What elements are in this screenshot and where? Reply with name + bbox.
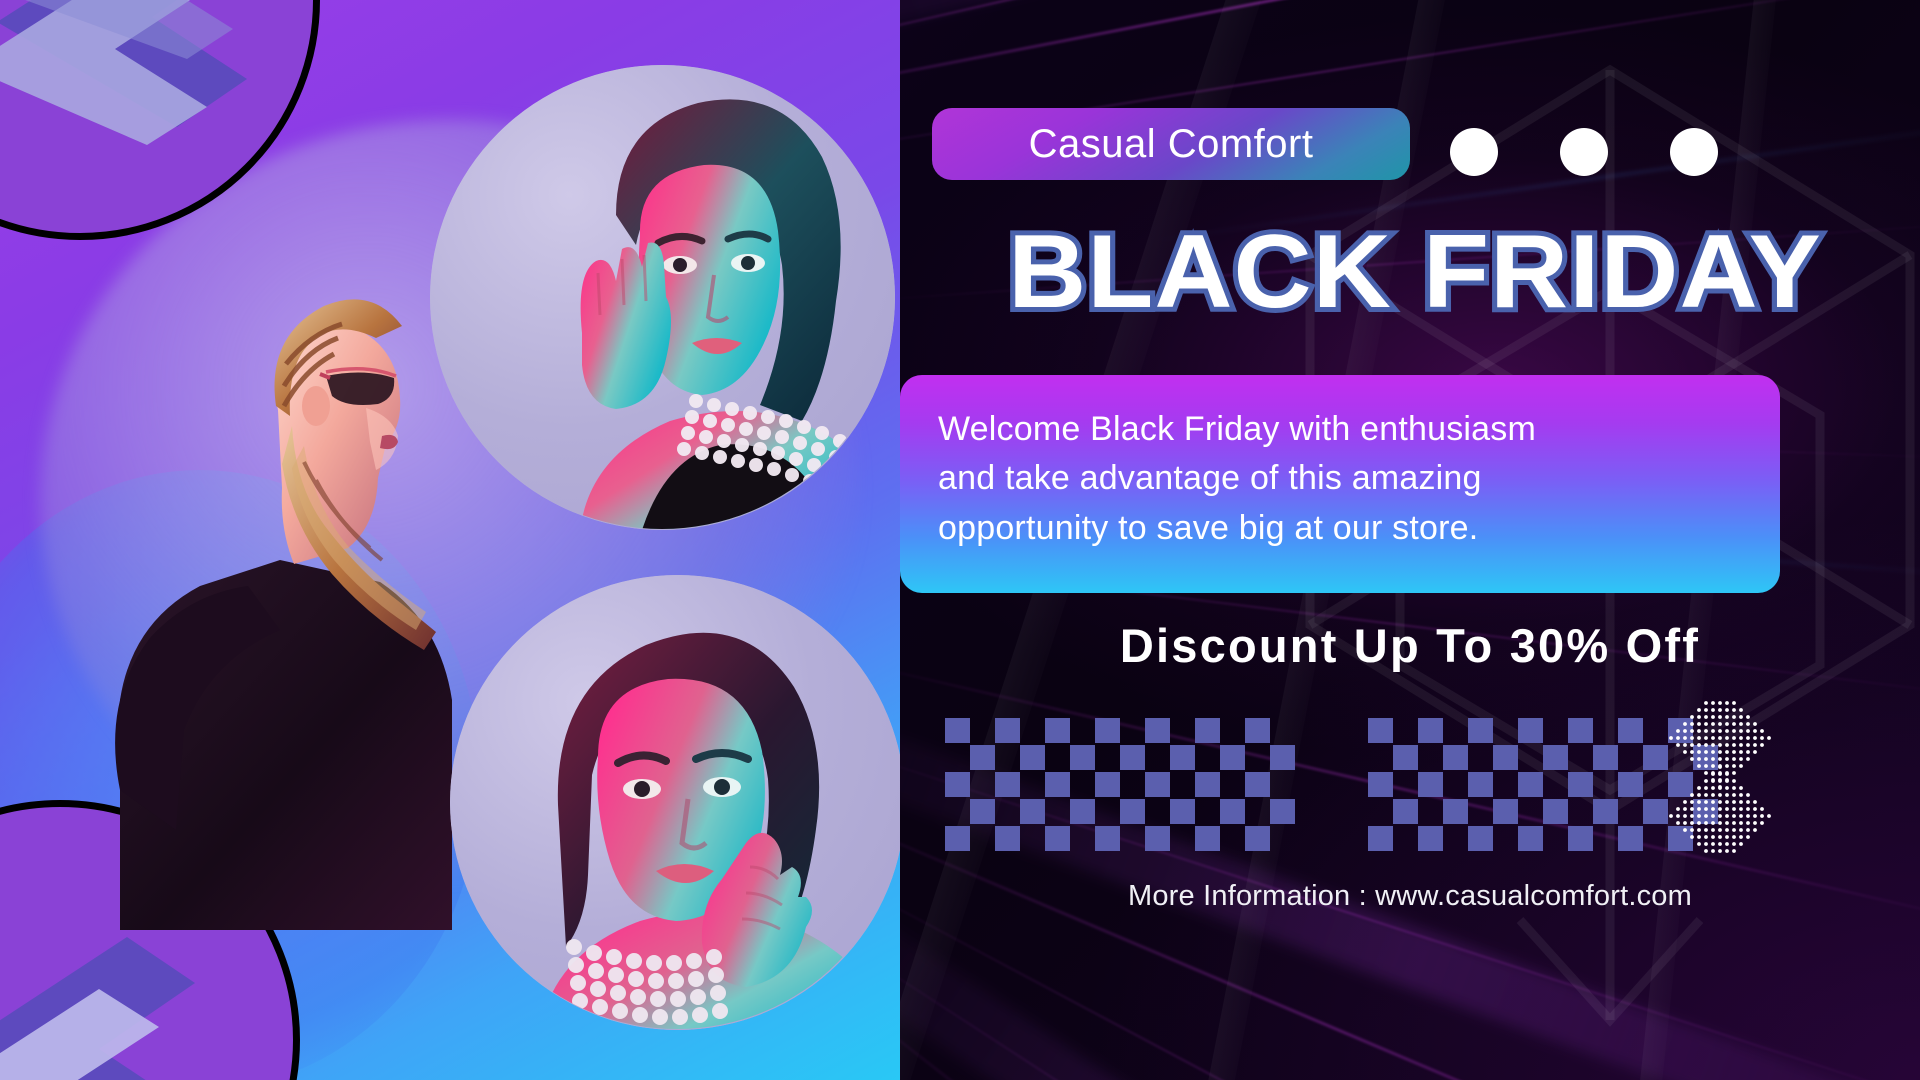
checker-cell [1120,826,1145,851]
checker-cell [1245,799,1270,824]
checker-cell [1120,772,1145,797]
dot-indicator[interactable] [1450,128,1498,176]
checker-cell [1568,718,1593,743]
checker-cell [1145,745,1170,770]
checker-cell [1195,799,1220,824]
checker-cell [1170,826,1195,851]
checker-cell [1095,745,1120,770]
checker-cell [970,718,995,743]
checker-cell [1270,826,1295,851]
checker-cell [1468,745,1493,770]
checker-cell [1393,772,1418,797]
checker-cell [1270,772,1295,797]
checker-cell [970,799,995,824]
checker-cell [1543,772,1568,797]
checker-cell [945,799,970,824]
checker-cell [1120,799,1145,824]
content-column: Casual Comfort BLACK FRIDAY Welcome Blac… [920,0,1920,1080]
checker-cell [1618,799,1643,824]
checker-cell [970,772,995,797]
checker-cell [995,826,1020,851]
checker-cell [1070,745,1095,770]
checker-cell [1220,772,1245,797]
dotted-diamond-ornament-icon [1660,700,1780,855]
checker-cell [995,772,1020,797]
checker-cell [1070,772,1095,797]
checker-cell [1095,718,1120,743]
checker-cell [970,826,995,851]
description-line-2: and take advantage of this amazing [938,454,1742,503]
checker-cell [1270,745,1295,770]
discount-headline: Discount Up To 30% Off [910,618,1910,673]
checker-cell [945,826,970,851]
checker-cell [1095,799,1120,824]
checker-cell [1245,718,1270,743]
checker-cell [1270,799,1295,824]
checker-cell [1120,718,1145,743]
checker-grid [945,718,1295,851]
checker-cell [1543,826,1568,851]
checker-cell [1020,799,1045,824]
checker-cell [1468,772,1493,797]
checker-cell [1418,826,1443,851]
checker-cell [1443,799,1468,824]
checker-cell [1195,718,1220,743]
dot-indicators [1450,128,1718,176]
checker-cell [1593,718,1618,743]
checker-cell [1593,745,1618,770]
checker-cell [1170,718,1195,743]
description-line-3: opportunity to save big at our store. [938,504,1742,553]
checker-cell [945,718,970,743]
checker-cell [1618,826,1643,851]
checker-cell [1195,826,1220,851]
checker-cell [1568,799,1593,824]
checker-cell [1020,718,1045,743]
checker-cell [995,718,1020,743]
model-hoodie-photo [80,230,460,930]
checker-cell [1493,799,1518,824]
checker-cell [1045,799,1070,824]
checker-cell [1368,745,1393,770]
checker-cell [1568,745,1593,770]
brand-badge-label: Casual Comfort [1029,122,1314,167]
checker-cell [1170,745,1195,770]
checker-cell [1145,826,1170,851]
checker-cell [1443,826,1468,851]
checker-cell [1220,826,1245,851]
checker-cell [1045,745,1070,770]
checker-cell [1493,718,1518,743]
checker-cell [1518,745,1543,770]
checker-cell [1568,772,1593,797]
checker-cell [1245,826,1270,851]
checker-cell [1368,718,1393,743]
checker-cell [1368,772,1393,797]
checker-cell [1443,772,1468,797]
checker-cell [1393,799,1418,824]
checker-cell [1368,799,1393,824]
checker-cell [1618,718,1643,743]
checker-cell [1145,799,1170,824]
portrait-top [430,65,895,530]
checker-cell [1518,826,1543,851]
photo-collage-panel [0,0,900,1080]
checker-cell [1443,718,1468,743]
checker-cell [1468,718,1493,743]
checker-cell [1393,718,1418,743]
checker-cell [1070,826,1095,851]
checker-cell [1120,745,1145,770]
checker-cell [1468,799,1493,824]
checker-cell [1518,799,1543,824]
checker-cell [1593,772,1618,797]
checker-cell [1170,772,1195,797]
checker-cell [1568,826,1593,851]
dot-indicator[interactable] [1560,128,1608,176]
description-card: Welcome Black Friday with enthusiasm and… [900,375,1780,593]
checker-cell [1468,826,1493,851]
checker-cell [1443,745,1468,770]
checker-cell [1418,772,1443,797]
checker-cell [1418,718,1443,743]
checker-cell [1270,718,1295,743]
checker-cell [1518,718,1543,743]
checker-cell [1170,799,1195,824]
checker-cell [1045,718,1070,743]
checker-cell [1070,799,1095,824]
checker-cell [1045,826,1070,851]
checker-cell [1220,799,1245,824]
checker-cell [1145,718,1170,743]
checker-cell [1220,718,1245,743]
portrait-bottom [450,575,900,1030]
description-line-1: Welcome Black Friday with enthusiasm [938,405,1742,454]
checker-cell [1393,745,1418,770]
checker-cell [1543,718,1568,743]
brand-badge[interactable]: Casual Comfort [932,108,1410,180]
dot-indicator[interactable] [1670,128,1718,176]
checker-cell [1493,772,1518,797]
checker-cell [1593,826,1618,851]
checker-cell [1493,826,1518,851]
checker-cell [1095,772,1120,797]
checker-cell [1618,772,1643,797]
checker-cell [1493,745,1518,770]
checker-cell [995,745,1020,770]
checker-cell [1195,745,1220,770]
checker-cell [1593,799,1618,824]
checker-cell [945,772,970,797]
checker-cell [1543,745,1568,770]
checker-cell [995,799,1020,824]
checker-cell [1020,826,1045,851]
footer-info: More Information : www.casualcomfort.com [910,880,1910,913]
checker-cell [1245,745,1270,770]
black-friday-poster: Casual Comfort BLACK FRIDAY Welcome Blac… [0,0,1920,1080]
checker-cell [1618,745,1643,770]
checker-cell [1045,772,1070,797]
checker-cell [1095,826,1120,851]
headline-title: BLACK FRIDAY [890,218,1920,327]
checker-cell [1070,718,1095,743]
checker-cell [1418,799,1443,824]
checker-cell [1543,799,1568,824]
checker-cell [1518,772,1543,797]
checker-cell [1245,772,1270,797]
checker-cell [945,745,970,770]
checker-cell [1020,745,1045,770]
checker-cell [1368,826,1393,851]
checker-cell [1220,745,1245,770]
checker-cell [1418,745,1443,770]
checkerboard-decoration [945,718,1718,851]
checker-cell [1145,772,1170,797]
checker-cell [1195,772,1220,797]
checker-cell [1393,826,1418,851]
checker-cell [970,745,995,770]
checker-cell [1020,772,1045,797]
